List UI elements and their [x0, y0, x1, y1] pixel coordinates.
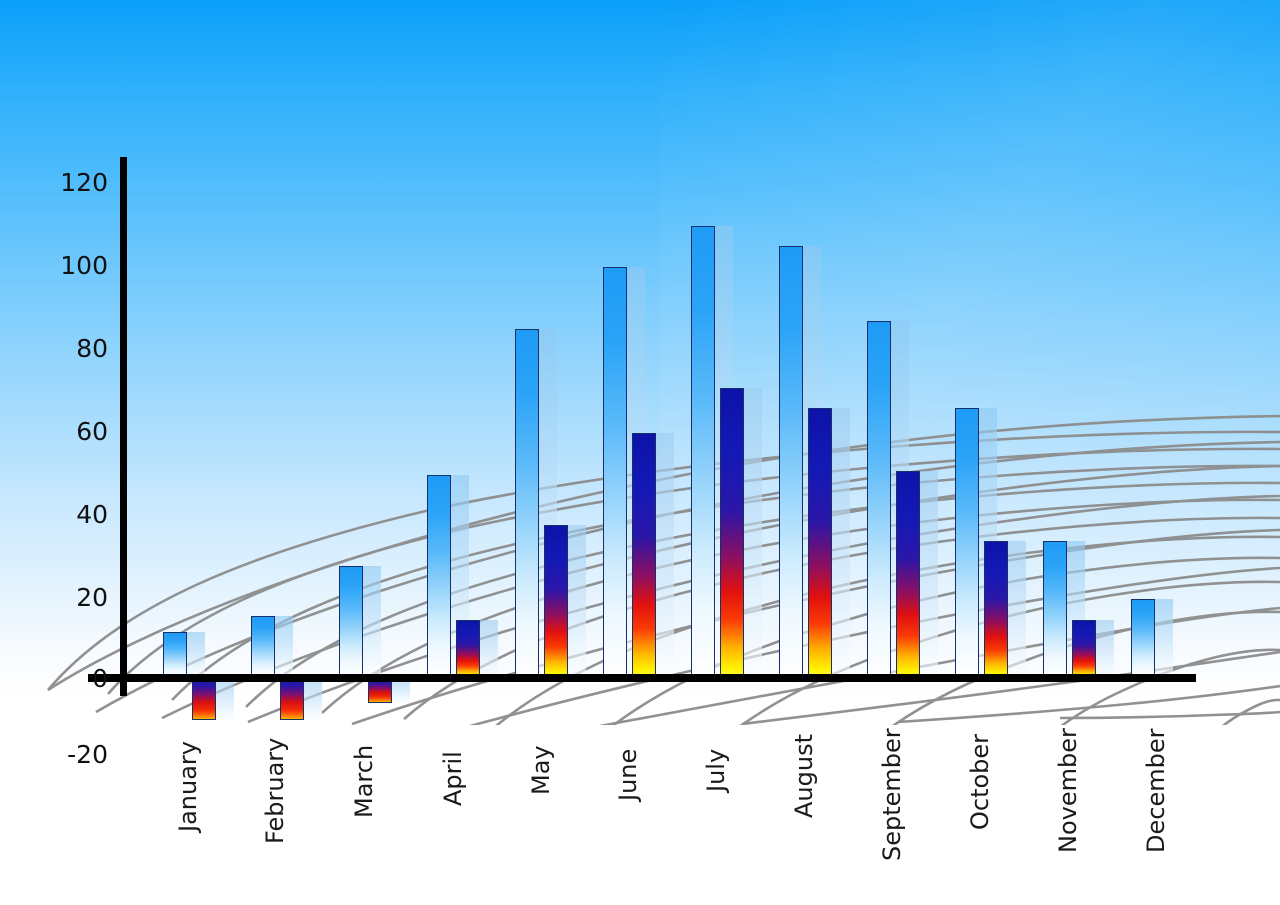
x-tick-august: August — [790, 734, 818, 818]
bar-face — [163, 632, 187, 678]
bar-march-series1 — [339, 566, 363, 678]
bar-june-series1 — [603, 267, 627, 678]
bar-face — [1072, 620, 1096, 678]
x-tick-march: March — [350, 745, 378, 818]
bar-face — [280, 678, 304, 720]
bar-january-series2 — [192, 678, 216, 720]
bar-face — [339, 566, 363, 678]
x-tick-september: September — [878, 728, 906, 861]
bar-face — [1043, 541, 1067, 678]
bar-side — [568, 525, 586, 679]
bar-face — [808, 408, 832, 678]
bar-july-series1 — [691, 226, 715, 678]
x-tick-december: December — [1142, 729, 1170, 853]
x-tick-july: July — [702, 749, 730, 792]
bar-february-series2 — [280, 678, 304, 720]
bar-side — [187, 632, 205, 678]
x-tick-may: May — [527, 745, 555, 795]
y-tick-60: 60 — [30, 417, 108, 446]
bar-face — [955, 408, 979, 678]
bar-september-series2 — [896, 471, 920, 679]
y-axis-line — [120, 157, 127, 696]
bar-august-series1 — [779, 246, 803, 678]
bar-side — [656, 433, 674, 678]
bar-october-series1 — [955, 408, 979, 678]
bar-december-series1 — [1131, 599, 1155, 678]
x-tick-january: January — [174, 741, 202, 832]
bar-side — [275, 616, 293, 678]
bar-face — [896, 471, 920, 679]
plot-area: 120 100 80 60 40 20 0 -20 January Februa… — [0, 0, 1280, 905]
bar-face — [1131, 599, 1155, 678]
bar-face — [632, 433, 656, 678]
bar-september-series1 — [867, 321, 891, 678]
bar-june-series2 — [632, 433, 656, 678]
bar-january-series1 — [163, 632, 187, 678]
bar-may-series1 — [515, 329, 539, 678]
bar-face — [691, 226, 715, 678]
bar-face — [984, 541, 1008, 678]
bar-side — [1008, 541, 1026, 678]
bar-face — [603, 267, 627, 678]
y-tick-0: 0 — [30, 664, 108, 693]
bar-face — [192, 678, 216, 720]
x-axis-line — [88, 674, 1196, 682]
bar-face — [251, 616, 275, 678]
bar-october-series2 — [984, 541, 1008, 678]
bar-november-series2 — [1072, 620, 1096, 678]
bar-face — [720, 388, 744, 679]
x-tick-april: April — [439, 751, 467, 806]
bar-face — [427, 475, 451, 678]
bar-side — [1155, 599, 1173, 678]
y-tick-120: 120 — [30, 168, 108, 197]
x-tick-june: June — [614, 749, 642, 801]
bar-face — [544, 525, 568, 679]
bar-february-series1 — [251, 616, 275, 678]
bar-side — [832, 408, 850, 678]
bar-may-series2 — [544, 525, 568, 679]
y-tick-neg20: -20 — [20, 740, 108, 769]
bar-april-series1 — [427, 475, 451, 678]
y-tick-20: 20 — [30, 583, 108, 612]
chart-canvas: 120 100 80 60 40 20 0 -20 January Februa… — [0, 0, 1280, 905]
bar-july-series2 — [720, 388, 744, 679]
bar-side — [480, 620, 498, 678]
x-tick-february: February — [261, 738, 289, 844]
x-tick-november: November — [1054, 728, 1082, 853]
bar-face — [867, 321, 891, 678]
bar-face — [515, 329, 539, 678]
bar-side — [304, 678, 322, 720]
bar-side — [363, 566, 381, 678]
bar-august-series2 — [808, 408, 832, 678]
bar-side — [216, 678, 234, 720]
y-tick-100: 100 — [30, 251, 108, 280]
x-tick-october: October — [966, 734, 994, 830]
bar-side — [1096, 620, 1114, 678]
y-tick-40: 40 — [30, 500, 108, 529]
bar-side — [920, 471, 938, 679]
bar-april-series2 — [456, 620, 480, 678]
y-tick-80: 80 — [30, 334, 108, 363]
bar-side — [744, 388, 762, 679]
bar-november-series1 — [1043, 541, 1067, 678]
bar-face — [456, 620, 480, 678]
bar-face — [779, 246, 803, 678]
